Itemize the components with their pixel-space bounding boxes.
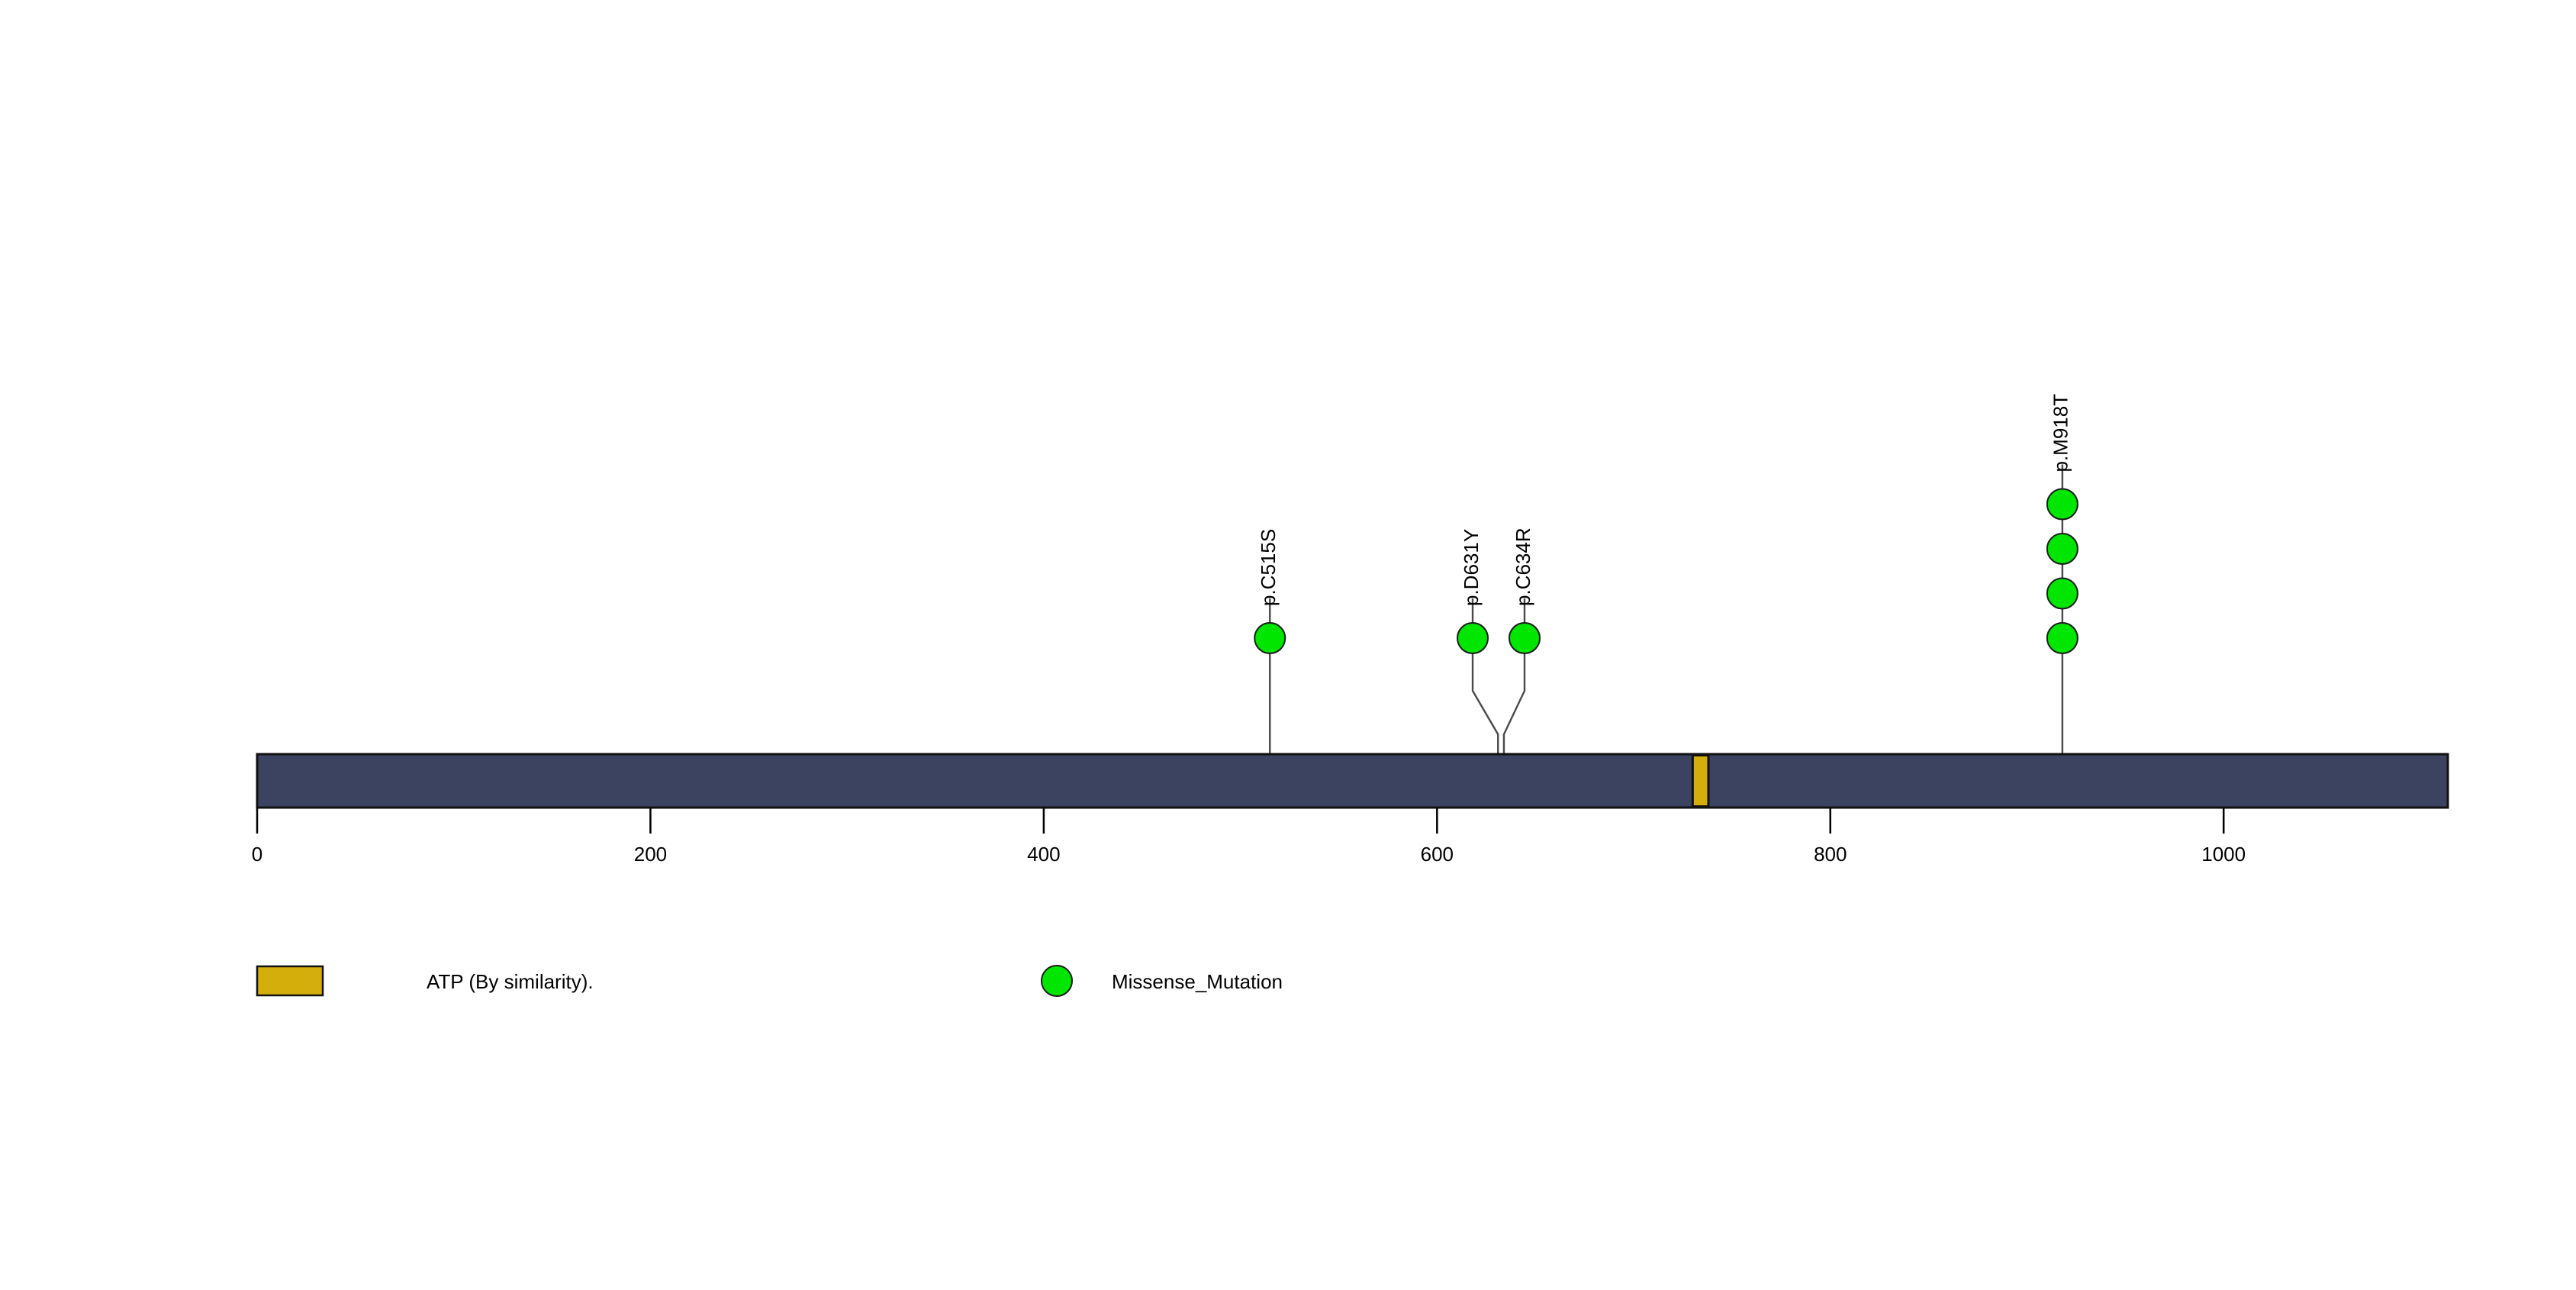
lollipop-chart-svg: ATP (By similarity). 02004006008001000 p… [0, 0, 2576, 1290]
mutation-marker[interactable]: p.C515S — Missense_Mutation [1254, 623, 1285, 653]
mutation-marker[interactable]: p.M918T — Missense_Mutation [2047, 489, 2078, 520]
protein-domains: ATP (By similarity). [1692, 756, 1708, 807]
mutation-marker[interactable]: p.C634R — Missense_Mutation [1509, 623, 1540, 653]
mutation-label: p.C515S [1257, 529, 1280, 606]
domain-band-atp[interactable]: ATP (By similarity). [1692, 756, 1708, 807]
axis-tick-label: 800 [1814, 843, 1847, 866]
lollipop-plot: ATP (By similarity). 02004006008001000 p… [0, 0, 2576, 1290]
mutation-marker[interactable]: p.D631Y — Missense_Mutation [1457, 623, 1488, 653]
legend-mutation-swatch [1042, 966, 1072, 996]
legend-mutation-label: Missense_Mutation [1112, 970, 1283, 993]
protein-backbone [257, 754, 2448, 808]
mutation-label: p.M918T [2050, 394, 2072, 472]
axis-tick-label: 200 [634, 843, 667, 866]
axis-tick-label: 600 [1421, 843, 1454, 866]
mutation-marker[interactable]: p.M918T — Missense_Mutation [2047, 534, 2078, 564]
chart-background [0, 0, 2576, 1290]
mutation-label: p.D631Y [1460, 529, 1483, 606]
legend-domain-label: ATP (By similarity). [427, 970, 594, 993]
protein-bar [257, 754, 2448, 808]
axis-tick-label: 400 [1027, 843, 1060, 866]
axis-tick-label: 0 [252, 843, 262, 866]
mutation-label: p.C634R [1512, 527, 1534, 606]
mutation-marker[interactable]: p.M918T — Missense_Mutation [2047, 623, 2078, 653]
axis-tick-label: 1000 [2201, 843, 2246, 866]
mutation-marker[interactable]: p.M918T — Missense_Mutation [2047, 579, 2078, 609]
legend-domain-swatch [257, 966, 323, 995]
